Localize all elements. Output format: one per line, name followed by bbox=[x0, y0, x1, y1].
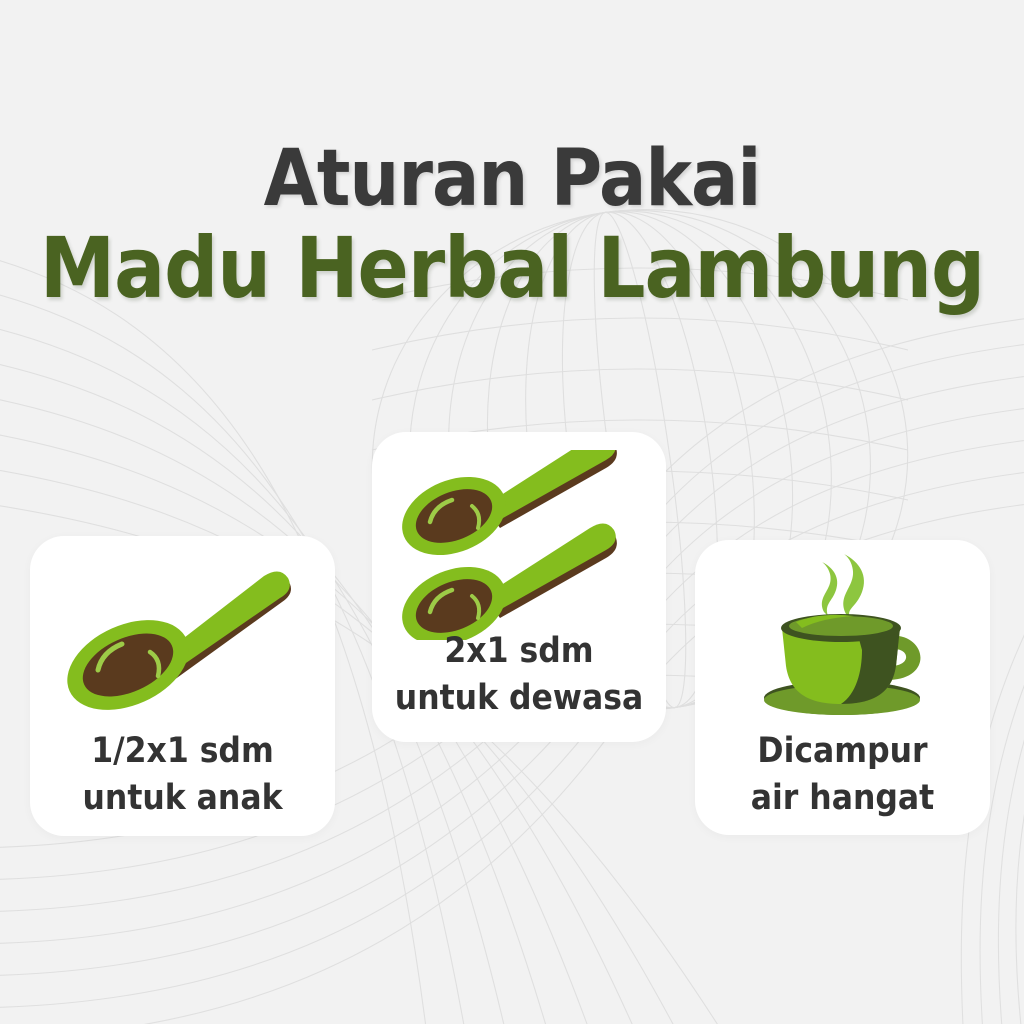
page-title-line1: Aturan Pakai bbox=[0, 140, 1024, 218]
card-caption-water-line2: air hangat bbox=[663, 775, 1023, 822]
card-mix-warm-water[interactable]: Dicampur air hangat bbox=[695, 540, 990, 835]
card-caption-child: 1/2x1 sdm untuk anak bbox=[3, 728, 363, 822]
card-caption-adult-line2: untuk dewasa bbox=[339, 675, 699, 722]
card-caption-water-line1: Dicampur bbox=[663, 728, 1023, 775]
heading-block: Aturan Pakai Madu Herbal Lambung bbox=[0, 140, 1024, 312]
card-caption-water: Dicampur air hangat bbox=[663, 728, 1023, 822]
card-dosage-child[interactable]: 1/2x1 sdm untuk anak bbox=[30, 536, 335, 836]
card-dosage-adult[interactable]: 2x1 sdm untuk dewasa bbox=[372, 432, 666, 742]
card-caption-child-line1: 1/2x1 sdm bbox=[3, 728, 363, 775]
steaming-cup-icon bbox=[750, 554, 935, 729]
card-caption-adult-line1: 2x1 sdm bbox=[339, 628, 699, 675]
card-caption-child-line2: untuk anak bbox=[3, 775, 363, 822]
honey-spoon-single-icon bbox=[58, 560, 308, 720]
poster-canvas: Aturan Pakai Madu Herbal Lambung 1/2x1 s… bbox=[0, 0, 1024, 1024]
card-caption-adult: 2x1 sdm untuk dewasa bbox=[339, 628, 699, 722]
page-title-line2: Madu Herbal Lambung bbox=[0, 224, 1024, 312]
honey-spoon-double-icon bbox=[392, 450, 650, 640]
